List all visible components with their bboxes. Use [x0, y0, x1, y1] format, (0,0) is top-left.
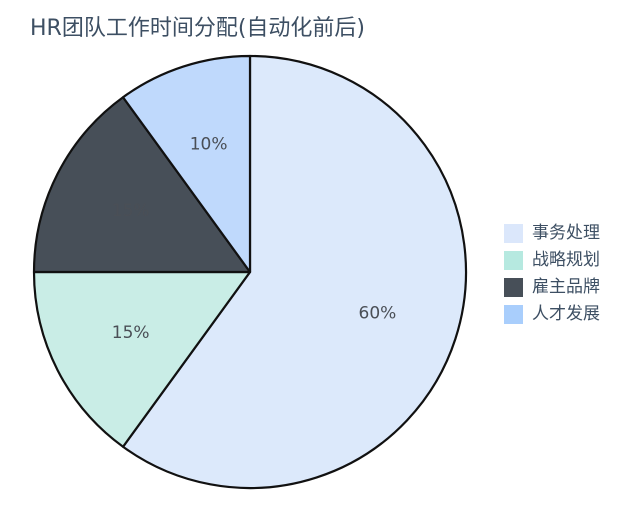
legend-item-0[interactable]: 事务处理: [504, 220, 636, 247]
pie-plot-area: 60%15%15%10%: [0, 42, 500, 512]
pie-slice-label-3: 10%: [190, 135, 228, 155]
legend-item-2[interactable]: 雇主品牌: [504, 274, 636, 301]
legend-swatch-icon-2: [504, 278, 523, 297]
legend-swatch-icon-1: [504, 251, 523, 270]
legend-item-1[interactable]: 战略规划: [504, 247, 636, 274]
pie-slice-label-2: 15%: [112, 201, 150, 221]
pie-slice-label-1: 15%: [112, 323, 150, 343]
pie-chart-figure: HR团队工作时间分配(自动化前后) 60%15%15%10% 事务处理 战略规划…: [0, 0, 640, 529]
pie-svg: 60%15%15%10%: [0, 42, 500, 512]
legend-label-1: 战略规划: [532, 251, 600, 270]
legend-label-0: 事务处理: [532, 224, 600, 243]
legend-label-3: 人才发展: [532, 305, 600, 324]
legend: 事务处理 战略规划 雇主品牌 人才发展: [504, 220, 636, 328]
legend-item-3[interactable]: 人才发展: [504, 301, 636, 328]
chart-title: HR团队工作时间分配(自动化前后): [30, 14, 365, 44]
pie-slice-label-0: 60%: [359, 303, 397, 323]
legend-label-2: 雇主品牌: [532, 278, 600, 297]
pie-slice-group: [34, 56, 466, 488]
legend-swatch-icon-3: [504, 305, 523, 324]
legend-swatch-icon-0: [504, 224, 523, 243]
